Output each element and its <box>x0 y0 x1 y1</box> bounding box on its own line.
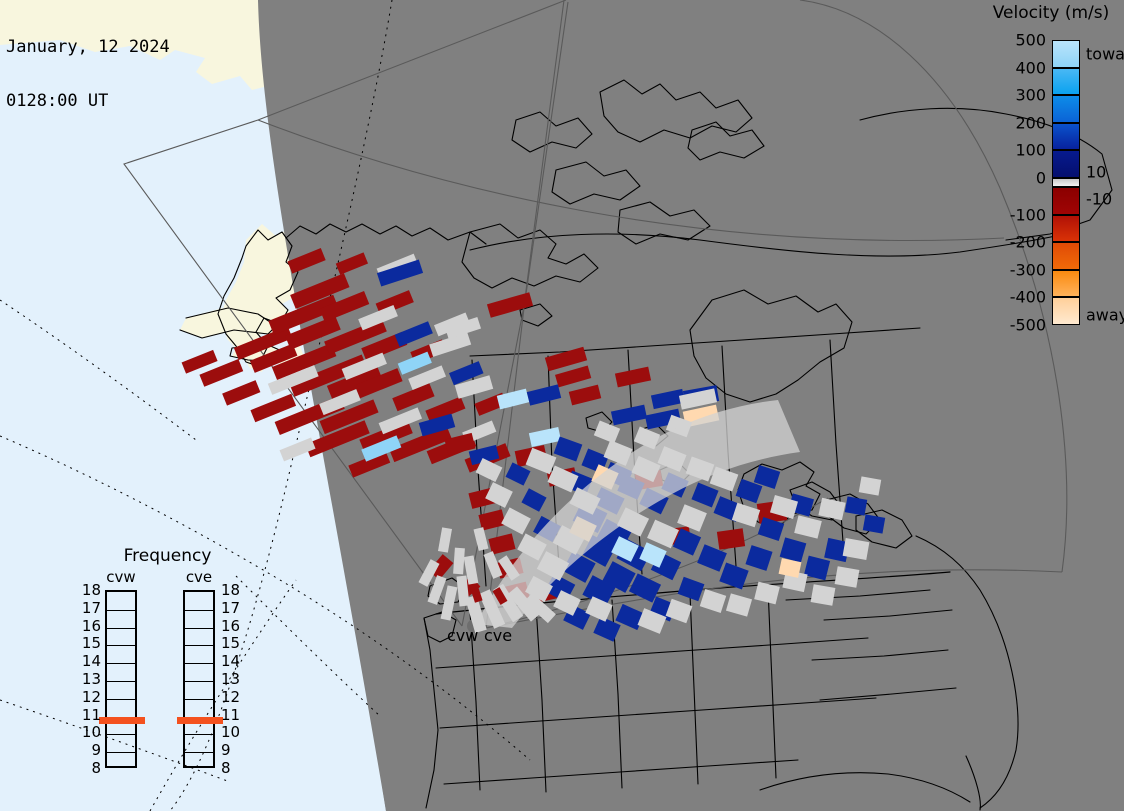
frequency-tick-label-left: 9 <box>77 741 101 759</box>
velocity-colorbar <box>1052 40 1080 325</box>
frequency-tick-label-left: 12 <box>77 688 101 706</box>
frequency-tick-label-right: 17 <box>221 599 245 617</box>
frequency-tick-label-right: 14 <box>221 652 245 670</box>
frequency-gridline <box>107 699 135 700</box>
frequency-gridline <box>185 610 213 611</box>
colorbar-zero-upper-label: 10 <box>1086 163 1106 182</box>
colorbar-segment <box>1052 242 1080 270</box>
colorbar-away-label: away <box>1086 306 1124 325</box>
frequency-bar-cvw <box>105 590 137 768</box>
colorbar-tick-label: -500 <box>986 316 1046 335</box>
timestamp-date: January, 12 2024 <box>6 38 170 56</box>
frequency-gridline <box>185 645 213 646</box>
frequency-bar-cve <box>183 590 215 768</box>
frequency-tick-label-right: 13 <box>221 670 245 688</box>
frequency-tick-label-right: 11 <box>221 706 245 724</box>
colorbar-tick-label: -200 <box>986 233 1046 252</box>
frequency-tick-label-left: 13 <box>77 670 101 688</box>
frequency-gridline <box>185 628 213 629</box>
colorbar-tick-label: -400 <box>986 288 1046 307</box>
colorbar-segment <box>1052 270 1080 298</box>
colorbar-zero-lower-label: -10 <box>1086 190 1112 209</box>
colorbar-tick-label: -300 <box>986 260 1046 279</box>
colorbar-segment <box>1052 68 1080 96</box>
site-label-cve: cve <box>484 626 512 645</box>
frequency-column-label-cve: cve <box>179 568 219 586</box>
site-label-cvw: cvw <box>447 626 478 645</box>
colorbar-tick-label: 400 <box>986 58 1046 77</box>
frequency-gridline <box>107 752 135 753</box>
frequency-tick-label-right: 15 <box>221 634 245 652</box>
frequency-gridline <box>185 734 213 735</box>
frequency-tick-label-right: 8 <box>221 759 245 777</box>
frequency-gridline <box>107 681 135 682</box>
colorbar-segment <box>1052 187 1080 215</box>
frequency-column-label-cvw: cvw <box>101 568 141 586</box>
colorbar-segment <box>1052 123 1080 151</box>
frequency-gridline <box>185 681 213 682</box>
colorbar-tick-label: 200 <box>986 113 1046 132</box>
frequency-tick-label-right: 10 <box>221 723 245 741</box>
colorbar-segment <box>1052 40 1080 68</box>
colorbar-segment <box>1052 95 1080 123</box>
frequency-tick-label-left: 14 <box>77 652 101 670</box>
frequency-tick-label-left: 8 <box>77 759 101 777</box>
frequency-tick-label-left: 10 <box>77 723 101 741</box>
colorbar-segment <box>1052 150 1080 178</box>
frequency-gridline <box>185 752 213 753</box>
superdarn-velocity-map: January, 12 2024 0128:00 UT cvw cve Velo… <box>0 0 1124 811</box>
frequency-marker-cvw <box>99 717 145 724</box>
frequency-tick-label-left: 11 <box>77 706 101 724</box>
frequency-tick-label-left: 17 <box>77 599 101 617</box>
frequency-marker-cve <box>177 717 223 724</box>
colorbar-segment <box>1052 178 1080 187</box>
frequency-tick-label-left: 16 <box>77 617 101 635</box>
colorbar-segment <box>1052 297 1080 325</box>
frequency-tick-label-right: 18 <box>221 581 245 599</box>
frequency-gridline <box>107 645 135 646</box>
frequency-tick-label-left: 15 <box>77 634 101 652</box>
frequency-tick-label-right: 12 <box>221 688 245 706</box>
frequency-legend: Frequency cvw cve 1818171716161515141413… <box>85 546 250 791</box>
colorbar-tick-label: 100 <box>986 141 1046 160</box>
colorbar-toward-label: toward <box>1086 45 1124 64</box>
colorbar-tick-label: 500 <box>986 31 1046 50</box>
frequency-gridline <box>107 663 135 664</box>
velocity-legend-title: Velocity (m/s) <box>978 3 1124 23</box>
timestamp: January, 12 2024 0128:00 UT <box>6 2 170 146</box>
colorbar-tick-label: -100 <box>986 205 1046 224</box>
frequency-tick-label-left: 18 <box>77 581 101 599</box>
frequency-legend-title: Frequency <box>85 546 250 566</box>
frequency-tick-label-right: 16 <box>221 617 245 635</box>
frequency-gridline <box>107 734 135 735</box>
colorbar-segment <box>1052 215 1080 243</box>
frequency-gridline <box>107 610 135 611</box>
frequency-gridline <box>185 699 213 700</box>
colorbar-tick-label: 300 <box>986 86 1046 105</box>
timestamp-time: 0128:00 UT <box>6 92 170 110</box>
frequency-gridline <box>107 628 135 629</box>
velocity-legend: Velocity (m/s) 5004003002001000-100-200-… <box>966 0 1124 340</box>
frequency-gridline <box>185 663 213 664</box>
colorbar-tick-label: 0 <box>986 169 1046 188</box>
frequency-tick-label-right: 9 <box>221 741 245 759</box>
